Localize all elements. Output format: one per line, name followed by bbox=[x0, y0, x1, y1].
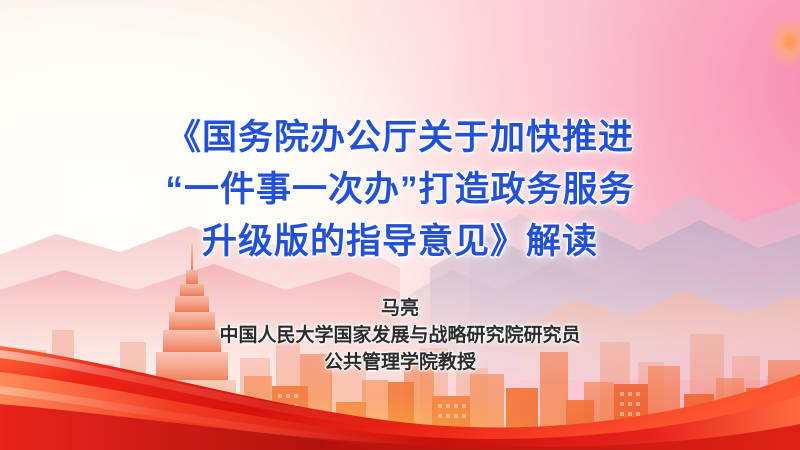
title-line-1: 《国务院办公厅关于加快推进 bbox=[0, 112, 800, 164]
presenter-name: 马亮 bbox=[0, 296, 800, 322]
title-block: 《国务院办公厅关于加快推进 “一件事一次办”打造政务服务 升级版的指导意见》解读 bbox=[0, 112, 800, 268]
presentation-slide: 《国务院办公厅关于加快推进 “一件事一次办”打造政务服务 升级版的指导意见》解读… bbox=[0, 0, 800, 450]
title-line-3: 升级版的指导意见》解读 bbox=[0, 216, 800, 268]
title-line-2: “一件事一次办”打造政务服务 bbox=[0, 164, 800, 216]
affiliation-line-2: 公共管理学院教授 bbox=[0, 349, 800, 376]
affiliation-line-1: 中国人民大学国家发展与战略研究院研究员 bbox=[0, 322, 800, 349]
presenter-block: 马亮 中国人民大学国家发展与战略研究院研究员 公共管理学院教授 bbox=[0, 296, 800, 376]
